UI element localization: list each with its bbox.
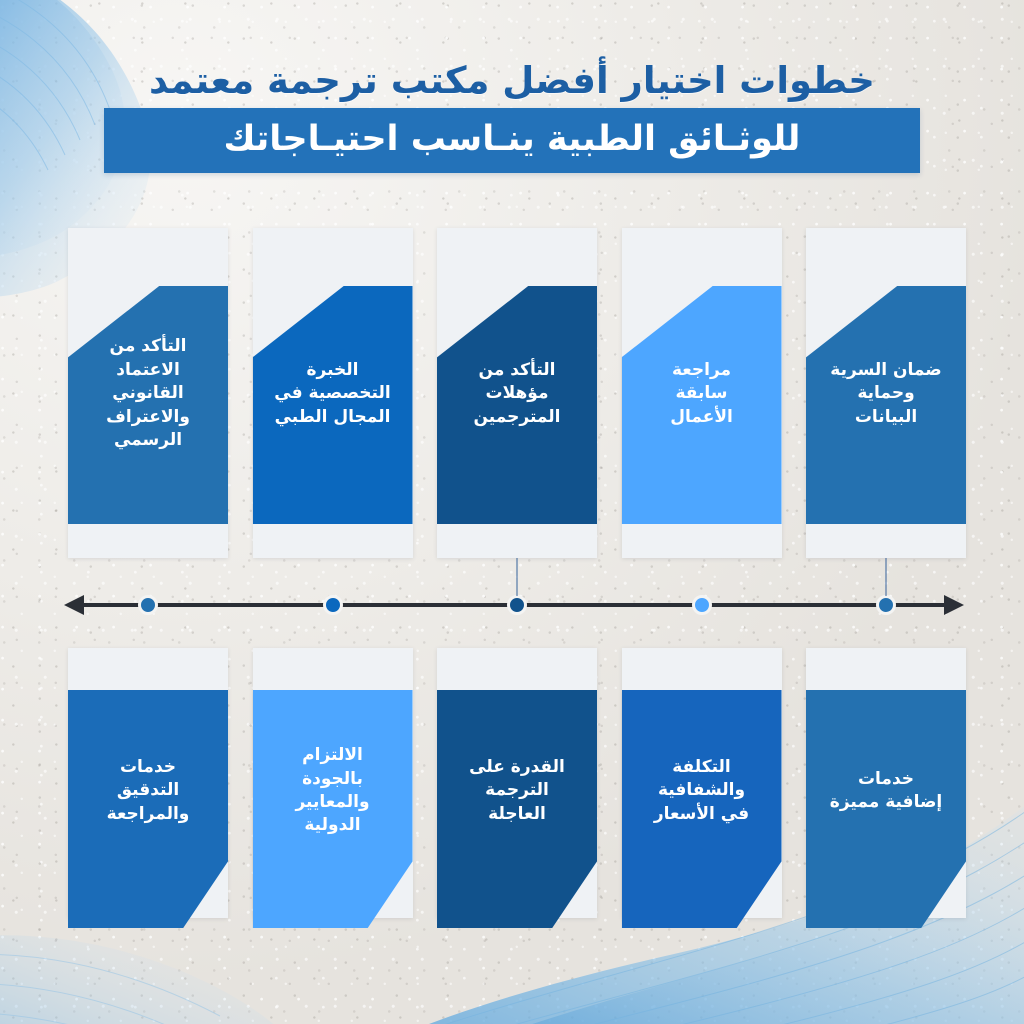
- step-card-label: التأكد من مؤهلات المترجمين: [465, 355, 570, 433]
- step-card-label: التأكد من الاعتماد القانوني والاعتراف ال…: [97, 331, 199, 456]
- timeline-dot[interactable]: [138, 595, 158, 615]
- step-card-color-block: القدرة على الترجمة العاجلة: [437, 690, 597, 928]
- step-card-color-block: التكلفة والشفافية في الأسعار: [622, 690, 782, 928]
- timeline-arrowhead-right-icon: [944, 595, 964, 615]
- step-card-label: خدمات إضافية مميزة: [821, 764, 951, 819]
- step-card-label: خدمات التدقيق والمراجعة: [98, 752, 199, 830]
- timeline-dot[interactable]: [876, 595, 896, 615]
- page-title-block: خطوات اختيار أفضل مكتب ترجمة معتمد للوثـ…: [104, 58, 920, 173]
- step-card-color-block: الالتزام بالجودة والمعايير الدولية: [253, 690, 413, 928]
- step-card-label: الالتزام بالجودة والمعايير الدولية: [286, 740, 378, 842]
- step-card-label: ضمان السرية وحماية البيانات: [821, 355, 950, 433]
- step-card-label: مراجعة سابقة الأعمال: [661, 355, 742, 433]
- infographic-canvas: خطوات اختيار أفضل مكتب ترجمة معتمد للوثـ…: [0, 0, 1024, 1024]
- timeline-arrowhead-left-icon: [64, 595, 84, 615]
- step-card-color-block: خدمات التدقيق والمراجعة: [68, 690, 228, 928]
- step-card-label: الخبرة التخصصية في المجال الطبي: [265, 355, 399, 433]
- page-title-line-1: خطوات اختيار أفضل مكتب ترجمة معتمد: [104, 58, 920, 103]
- timeline-dot[interactable]: [692, 595, 712, 615]
- step-card-color-block: خدمات إضافية مميزة: [806, 690, 966, 928]
- timeline-arrow: [64, 588, 964, 622]
- step-card-label: التكلفة والشفافية في الأسعار: [645, 752, 758, 830]
- timeline-dot[interactable]: [507, 595, 527, 615]
- timeline-dot[interactable]: [323, 595, 343, 615]
- timeline-connector-stem: [885, 558, 887, 596]
- steps-row-top: ضمان السرية وحماية البياناتمراجعة سابقة …: [68, 228, 966, 558]
- step-card-label: القدرة على الترجمة العاجلة: [460, 752, 574, 830]
- timeline-connector-stem: [516, 558, 518, 596]
- steps-row-bottom: خدمات إضافية مميزةالتكلفة والشفافية في ا…: [68, 648, 966, 928]
- page-title-banner: للوثـائق الطبية ينـاسب احتيـاجاتك: [104, 108, 920, 173]
- page-title-line-2: للوثـائق الطبية ينـاسب احتيـاجاتك: [122, 118, 902, 160]
